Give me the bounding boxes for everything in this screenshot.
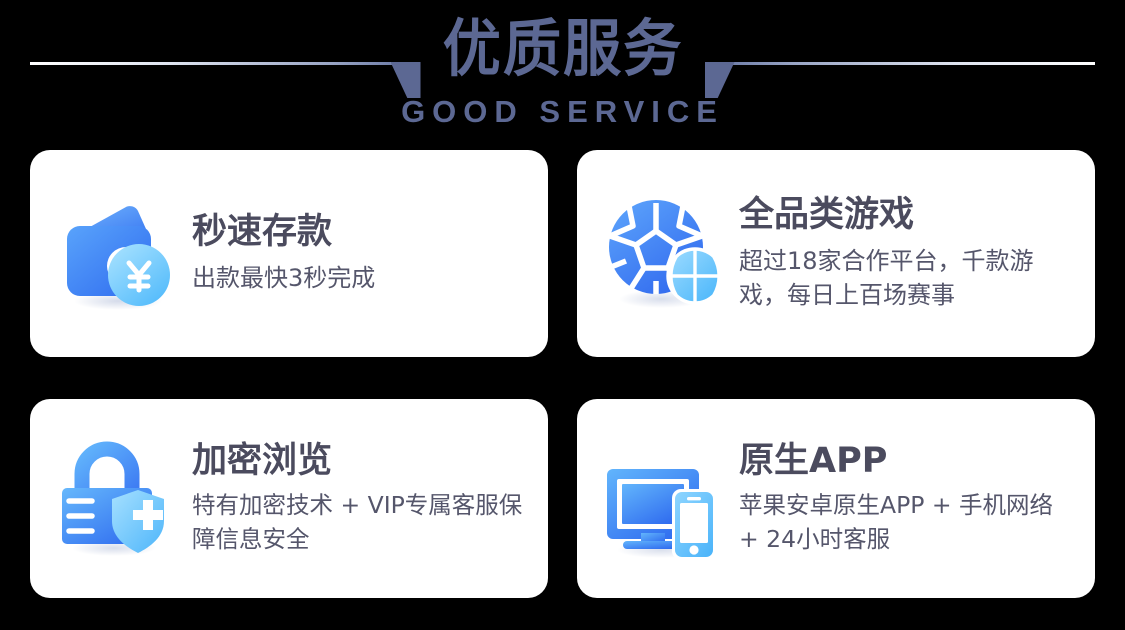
card-text-block: 秒速存款 出款最快3秒完成: [192, 212, 526, 294]
soccer-basketball-icon: [603, 193, 725, 315]
card-title: 全品类游戏: [739, 195, 1073, 236]
wallet-yen-icon: [56, 193, 178, 315]
page-root: 优质服务 GOOD SERVICE: [0, 0, 1125, 630]
feature-card[interactable]: 秒速存款 出款最快3秒完成: [30, 150, 548, 357]
card-description: 出款最快3秒完成: [192, 261, 526, 295]
right-decorative-rule: [705, 23, 1125, 75]
card-text-block: 原生APP 苹果安卓原生APP + 手机网络 + 24小时客服: [739, 441, 1073, 556]
page-subtitle: GOOD SERVICE: [0, 96, 1125, 127]
left-rule-slash: [391, 62, 421, 98]
lock-shield-icon: [56, 438, 178, 560]
card-description: 特有加密技术 + VIP专属客服保障信息安全: [192, 489, 526, 556]
feature-card[interactable]: 加密浏览 特有加密技术 + VIP专属客服保障信息安全: [30, 399, 548, 598]
card-title: 原生APP: [739, 441, 1073, 482]
feature-card[interactable]: 原生APP 苹果安卓原生APP + 手机网络 + 24小时客服: [577, 399, 1095, 598]
feature-card[interactable]: 全品类游戏 超过18家合作平台，千款游戏，每日上百场赛事: [577, 150, 1095, 357]
page-title: 优质服务: [429, 18, 696, 80]
card-title: 加密浏览: [192, 441, 526, 482]
card-description: 超过18家合作平台，千款游戏，每日上百场赛事: [739, 244, 1073, 312]
left-rule-line: [30, 62, 399, 65]
card-text-block: 全品类游戏 超过18家合作平台，千款游戏，每日上百场赛事: [739, 195, 1073, 311]
card-description: 苹果安卓原生APP + 手机网络 + 24小时客服: [739, 489, 1073, 556]
monitor-phone-icon: [603, 438, 725, 560]
right-rule-line: [727, 62, 1096, 65]
page-header: 优质服务 GOOD SERVICE: [0, 0, 1125, 146]
feature-card-grid: 秒速存款 出款最快3秒完成: [30, 150, 1095, 598]
card-text-block: 加密浏览 特有加密技术 + VIP专属客服保障信息安全: [192, 441, 526, 556]
right-rule-slash: [705, 62, 735, 98]
left-decorative-rule: [0, 23, 421, 75]
card-title: 秒速存款: [192, 212, 526, 253]
title-row: 优质服务: [0, 8, 1125, 90]
